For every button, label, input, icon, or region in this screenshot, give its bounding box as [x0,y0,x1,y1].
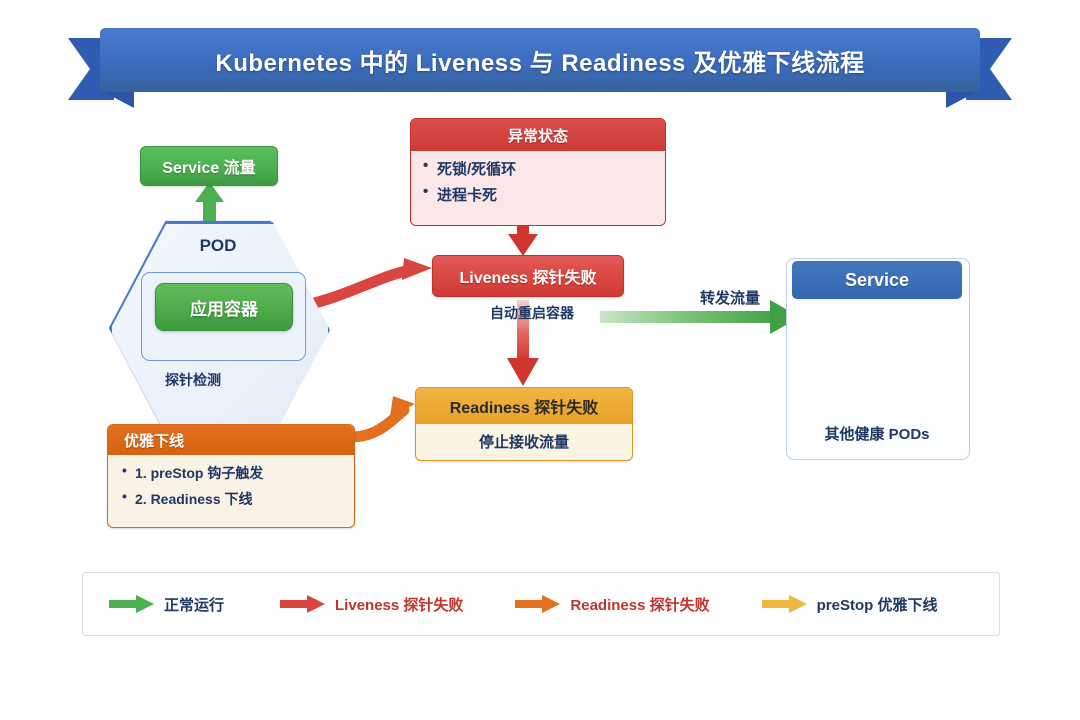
legend-arrow-red-icon [280,594,326,614]
abnormal-state-body: 死锁/死循环 进程卡死 [411,151,665,205]
legend-label-liveness: Liveness 探针失败 [335,594,463,615]
legend-item-readiness: Readiness 探针失败 [515,594,709,615]
app-container-box[interactable]: 应用容器 [155,283,293,331]
legend-label-prestop: preStop 优雅下线 [817,594,938,615]
abnormal-item: 进程卡死 [423,184,653,205]
readiness-sub-label: 停止接收流量 [416,424,632,459]
graceful-shutdown-card: 优雅下线 1. preStop 钩子触发 2. Readiness 下线 [107,424,355,528]
arrow-graceful-to-readiness [354,396,415,437]
service-traffic-label: Service 流量 [162,154,255,178]
legend-label-normal: 正常运行 [164,594,224,615]
legend-label-readiness: Readiness 探针失败 [570,594,709,615]
auto-restart-label: 自动重启容器 [462,303,602,323]
legend-item-normal: 正常运行 [109,594,224,615]
abnormal-state-card: 异常状态 死锁/死循环 进程卡死 [410,118,666,226]
service-traffic-pill[interactable]: Service 流量 [140,146,278,186]
pod-label: POD [110,236,326,256]
readiness-failure-box[interactable]: Readiness 探针失败 停止接收流量 [415,387,633,461]
readiness-failure-label: Readiness 探针失败 [416,388,632,424]
forward-traffic-label: 转发流量 [680,287,780,308]
diagram-canvas: Kubernetes 中的 Liveness 与 Readiness 及优雅下线… [0,0,1080,720]
title-ribbon: Kubernetes 中的 Liveness 与 Readiness 及优雅下线… [68,28,1012,106]
graceful-step: 2. Readiness 下线 [122,489,354,509]
legend-arrow-orange-icon [515,594,561,614]
legend-arrow-green-icon [109,594,155,614]
arrow-abnormal-to-liveness [508,224,538,256]
service-header-label: Service [845,270,909,291]
abnormal-state-heading: 异常状态 [411,119,665,151]
graceful-shutdown-body: 1. preStop 钩子触发 2. Readiness 下线 [108,455,354,509]
graceful-step: 1. preStop 钩子触发 [122,463,354,483]
ribbon-body: Kubernetes 中的 Liveness 与 Readiness 及优雅下线… [100,28,980,92]
legend-item-prestop: preStop 优雅下线 [762,594,938,615]
graceful-shutdown-heading: 优雅下线 [108,425,354,455]
legend: 正常运行 Liveness 探针失败 Readiness 探针失败 preSto… [82,572,1000,636]
legend-arrow-yellow-icon [762,594,808,614]
abnormal-item: 死锁/死循环 [423,158,653,179]
probe-check-label: 探针检测 [133,370,253,390]
page-title: Kubernetes 中的 Liveness 与 Readiness 及优雅下线… [215,43,864,78]
service-header[interactable]: Service [792,261,962,299]
app-container-label: 应用容器 [190,295,258,320]
legend-item-liveness: Liveness 探针失败 [280,594,463,615]
healthy-pods-label: 其他健康 PODs [786,423,968,444]
liveness-failure-label: Liveness 探针失败 [460,264,597,288]
liveness-failure-box[interactable]: Liveness 探针失败 [432,255,624,297]
